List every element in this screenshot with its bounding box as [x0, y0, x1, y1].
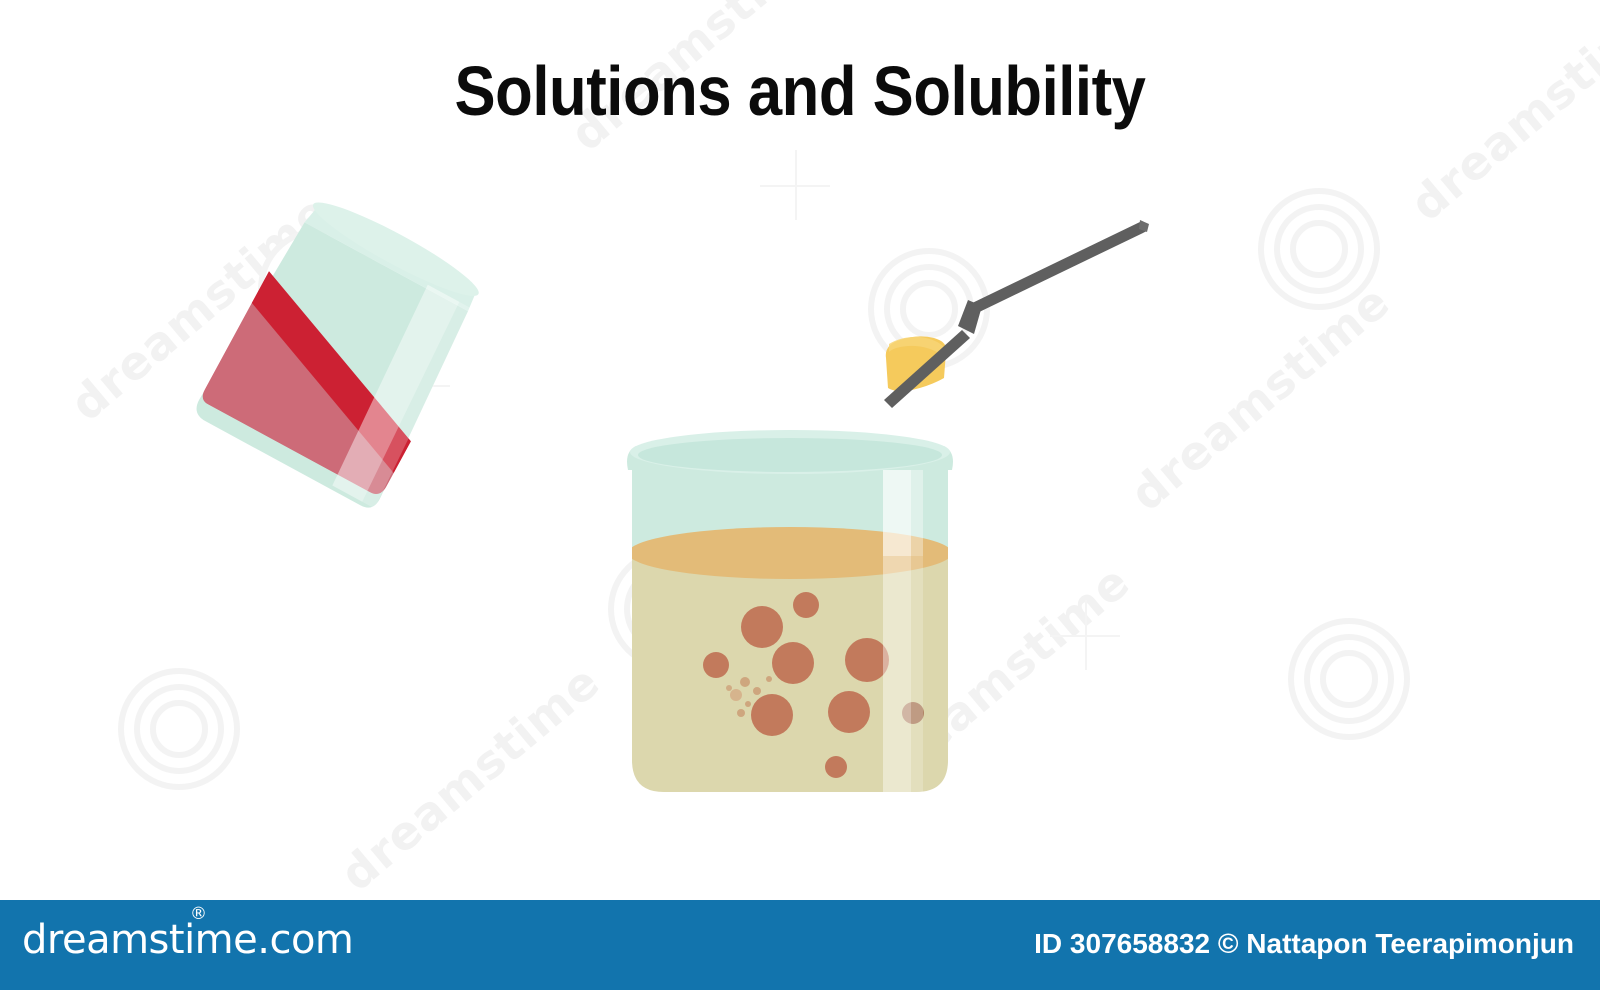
page-title: Solutions and Solubility — [96, 56, 1504, 126]
solute-particle — [825, 756, 847, 778]
solute-particle-small — [740, 677, 750, 687]
illustration-canvas: dreamstime dreamstime dreamstime dreamst… — [0, 0, 1600, 990]
solute-particle-small — [753, 687, 761, 695]
main-beaker-mouth-inner — [638, 438, 942, 472]
main-beaker-solution — [620, 430, 960, 802]
spatula-with-powder — [884, 220, 1149, 408]
solute-particle-small — [730, 689, 742, 701]
solute-particle-small — [726, 685, 732, 691]
solute-particle — [703, 652, 729, 678]
dreamstime-logo-text: dreamstime.com — [22, 917, 353, 963]
spatula-handle — [966, 221, 1147, 316]
image-credit: ID 307658832 © Nattapon Teerapimonjun — [1034, 928, 1574, 960]
solute-particle — [741, 606, 783, 648]
solute-particle — [828, 691, 870, 733]
main-beaker-highlight-upper — [883, 470, 911, 556]
solute-particle — [751, 694, 793, 736]
solute-particle-small — [766, 676, 772, 682]
stock-footer-bar: dreamstime.com ® ID 307658832 © Nattapon… — [0, 900, 1600, 990]
chemistry-illustration — [0, 0, 1600, 990]
solute-particle — [793, 592, 819, 618]
solute-particle — [772, 642, 814, 684]
solute-particle-small — [737, 709, 745, 717]
solute-particle-small — [745, 701, 751, 707]
registered-mark-icon: ® — [190, 906, 207, 923]
dreamstime-logo[interactable]: dreamstime.com ® — [22, 920, 353, 960]
tilted-beaker-red-liquid — [140, 169, 518, 555]
solute-particle — [845, 638, 889, 682]
main-beaker-highlight-upper-edge — [911, 470, 923, 556]
